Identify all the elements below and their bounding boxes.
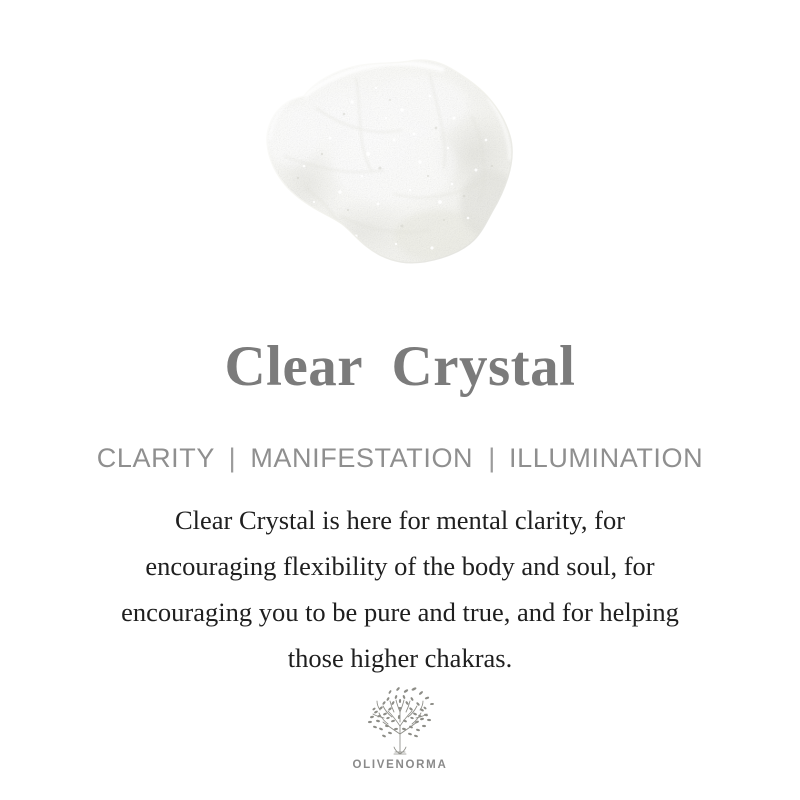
crystal-body [244,44,534,306]
olive-tree-logo-icon [354,684,446,758]
description-line-1: Clear Crystal is here for mental clarity… [50,497,750,543]
keyword-separator-1: | [223,443,243,473]
brand-logo: OLIVENORMA [0,684,800,771]
product-description: Clear Crystal is here for mental clarity… [50,497,750,681]
raw-clear-quartz-crystal-photo [244,44,534,306]
description-line-3: encouraging you to be pure and true, and… [50,589,750,635]
brand-name: OLIVENORMA [353,759,448,771]
keyword-list: CLARITY | MANIFESTATION | ILLUMINATION [0,441,800,475]
keyword-separator-2: | [481,443,501,473]
product-image-area [0,18,800,303]
crystal-info-card: Clear Crystal CLARITY | MANIFESTATION | … [0,0,800,800]
keyword-illumination: ILLUMINATION [509,443,703,473]
keyword-clarity: CLARITY [97,443,215,473]
clear-quartz-crystal-image [244,44,534,306]
description-line-2: encouraging flexibility of the body and … [50,543,750,589]
flying-leaves [388,687,434,706]
product-title: Clear Crystal [0,336,800,398]
crystal-surface-texture [244,44,534,306]
description-line-4: those higher chakras. [50,635,750,681]
keyword-manifestation: MANIFESTATION [250,443,473,473]
